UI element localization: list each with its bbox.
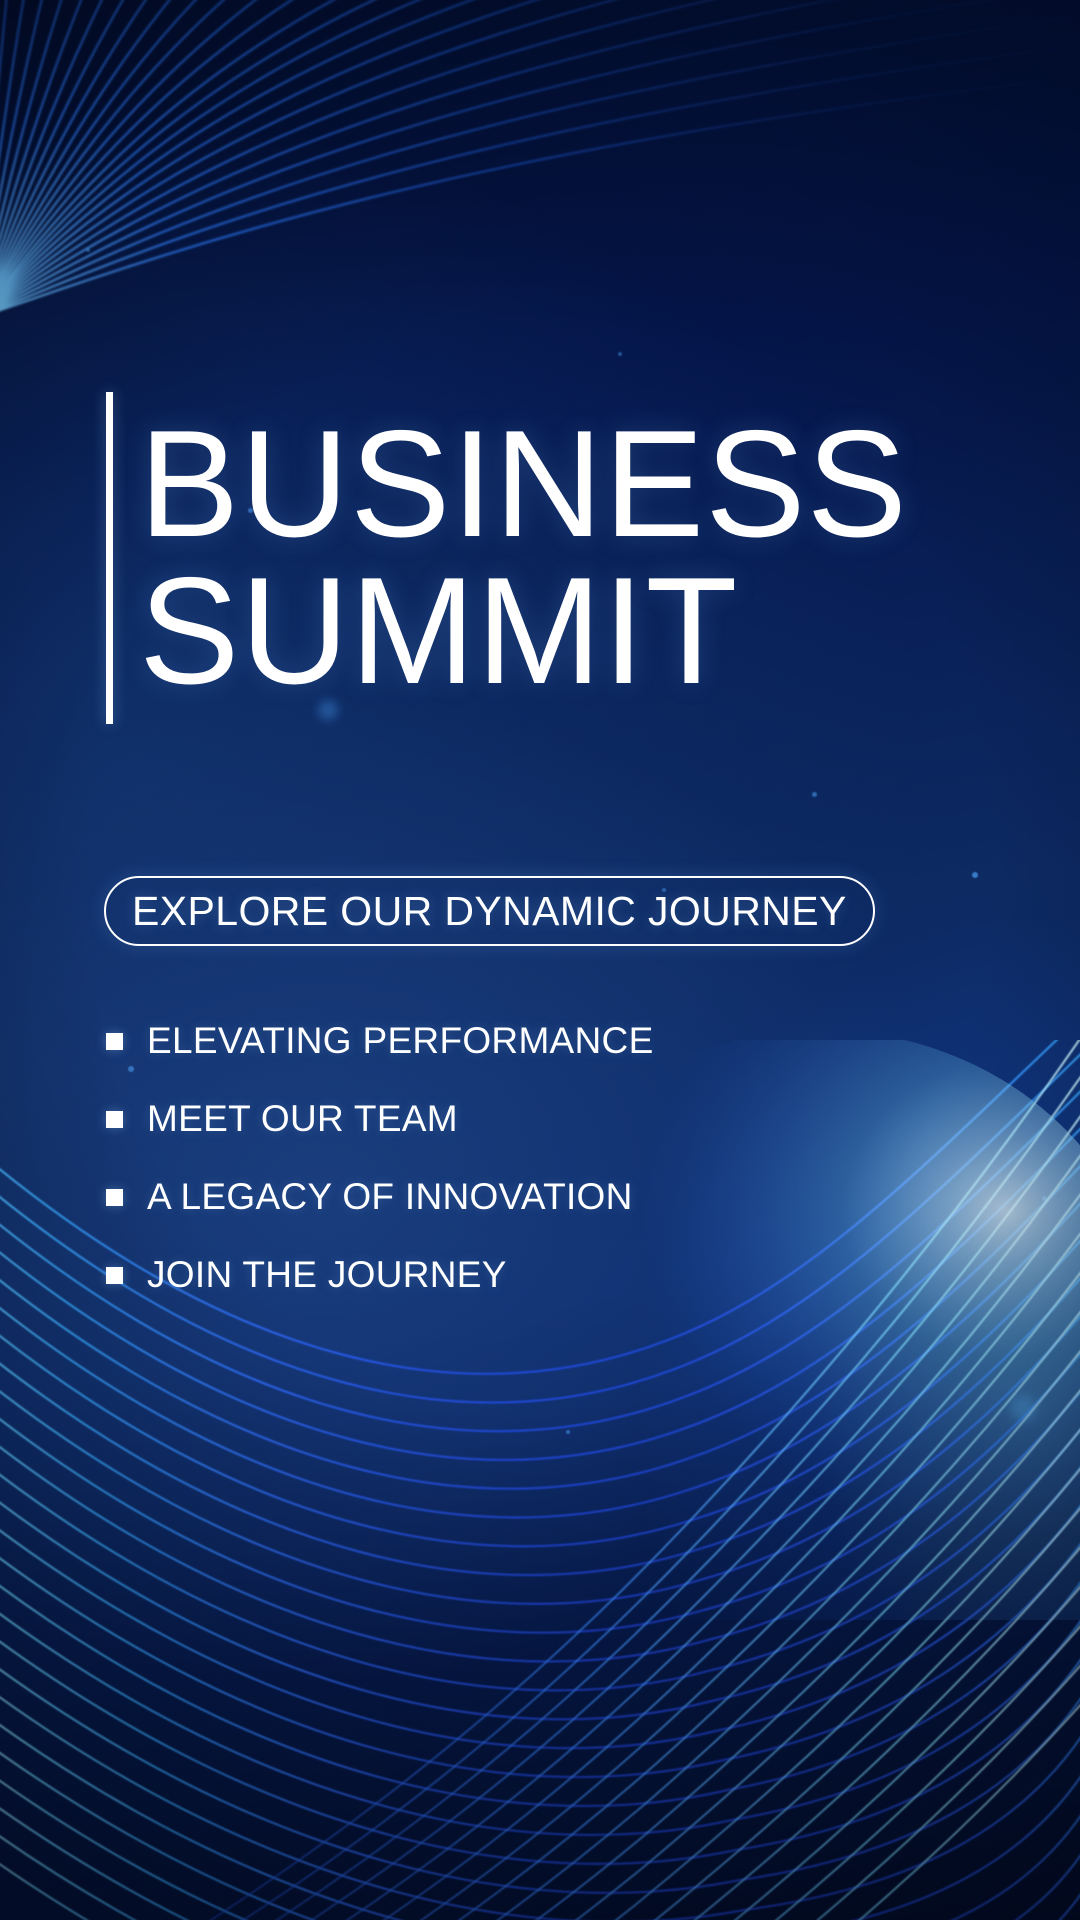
title-lines: BUSINESS SUMMIT <box>139 392 916 724</box>
agenda-list: ELEVATING PERFORMANCE MEET OUR TEAM A LE… <box>106 1002 966 1314</box>
page-title: BUSINESS SUMMIT <box>106 392 916 724</box>
square-bullet-icon <box>106 1033 123 1050</box>
title-line-1: BUSINESS <box>139 411 908 558</box>
explore-journey-button[interactable]: EXPLORE OUR DYNAMIC JOURNEY <box>104 876 875 946</box>
list-item-label: ELEVATING PERFORMANCE <box>147 1020 654 1062</box>
list-item[interactable]: JOIN THE JOURNEY <box>106 1236 966 1314</box>
square-bullet-icon <box>106 1189 123 1206</box>
list-item[interactable]: MEET OUR TEAM <box>106 1080 966 1158</box>
list-item-label: A LEGACY OF INNOVATION <box>147 1176 633 1218</box>
title-line-2: SUMMIT <box>139 558 908 705</box>
square-bullet-icon <box>106 1267 123 1284</box>
square-bullet-icon <box>106 1111 123 1128</box>
list-item-label: JOIN THE JOURNEY <box>147 1254 507 1296</box>
poster-canvas: BUSINESS SUMMIT EXPLORE OUR DYNAMIC JOUR… <box>0 0 1080 1920</box>
poster-content: BUSINESS SUMMIT EXPLORE OUR DYNAMIC JOUR… <box>0 0 1080 1920</box>
explore-journey-label: EXPLORE OUR DYNAMIC JOURNEY <box>132 888 847 935</box>
list-item-label: MEET OUR TEAM <box>147 1098 458 1140</box>
list-item[interactable]: ELEVATING PERFORMANCE <box>106 1002 966 1080</box>
vertical-accent-bar-icon <box>106 392 113 724</box>
list-item[interactable]: A LEGACY OF INNOVATION <box>106 1158 966 1236</box>
